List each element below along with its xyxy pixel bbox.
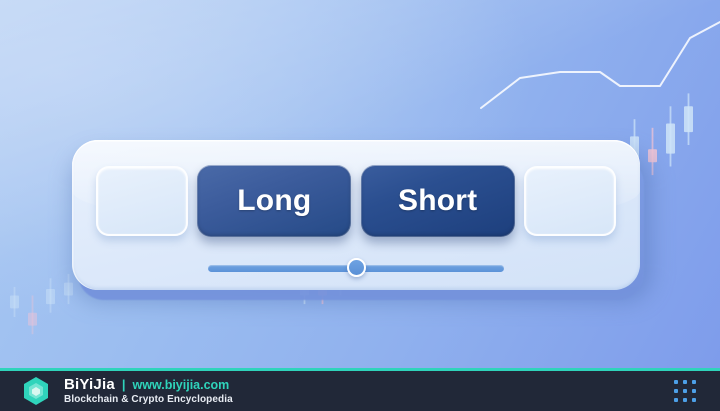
- brand-tagline: Blockchain & Crypto Encyclopedia: [64, 394, 233, 406]
- brand-top-row: BiYiJia | www.biyijia.com: [64, 376, 233, 394]
- trend-line: [481, 22, 720, 108]
- short-button[interactable]: Short: [361, 165, 515, 237]
- brand-name: BiYiJia: [64, 376, 115, 394]
- brand-block: BiYiJia | www.biyijia.com Blockchain & C…: [64, 376, 233, 406]
- hero-background: Long Short: [0, 0, 720, 368]
- brand-separator: |: [122, 377, 126, 392]
- hexagon-logo-icon: [22, 376, 50, 406]
- long-button[interactable]: Long: [197, 165, 351, 237]
- trading-control-card: Long Short: [72, 140, 640, 290]
- slider-thumb[interactable]: [347, 258, 366, 277]
- site-footer: BiYiJia | www.biyijia.com Blockchain & C…: [0, 371, 720, 411]
- short-button-label: Short: [398, 184, 477, 218]
- brand-url[interactable]: www.biyijia.com: [133, 378, 230, 393]
- long-button-label: Long: [237, 184, 311, 218]
- card-controls-row: Long Short: [96, 165, 616, 237]
- left-empty-slot[interactable]: [96, 166, 188, 236]
- dot-grid-icon: [674, 380, 696, 402]
- screenshot-root: Long Short BiYiJia |: [0, 0, 720, 411]
- right-empty-slot[interactable]: [524, 166, 616, 236]
- leverage-slider[interactable]: [208, 259, 504, 277]
